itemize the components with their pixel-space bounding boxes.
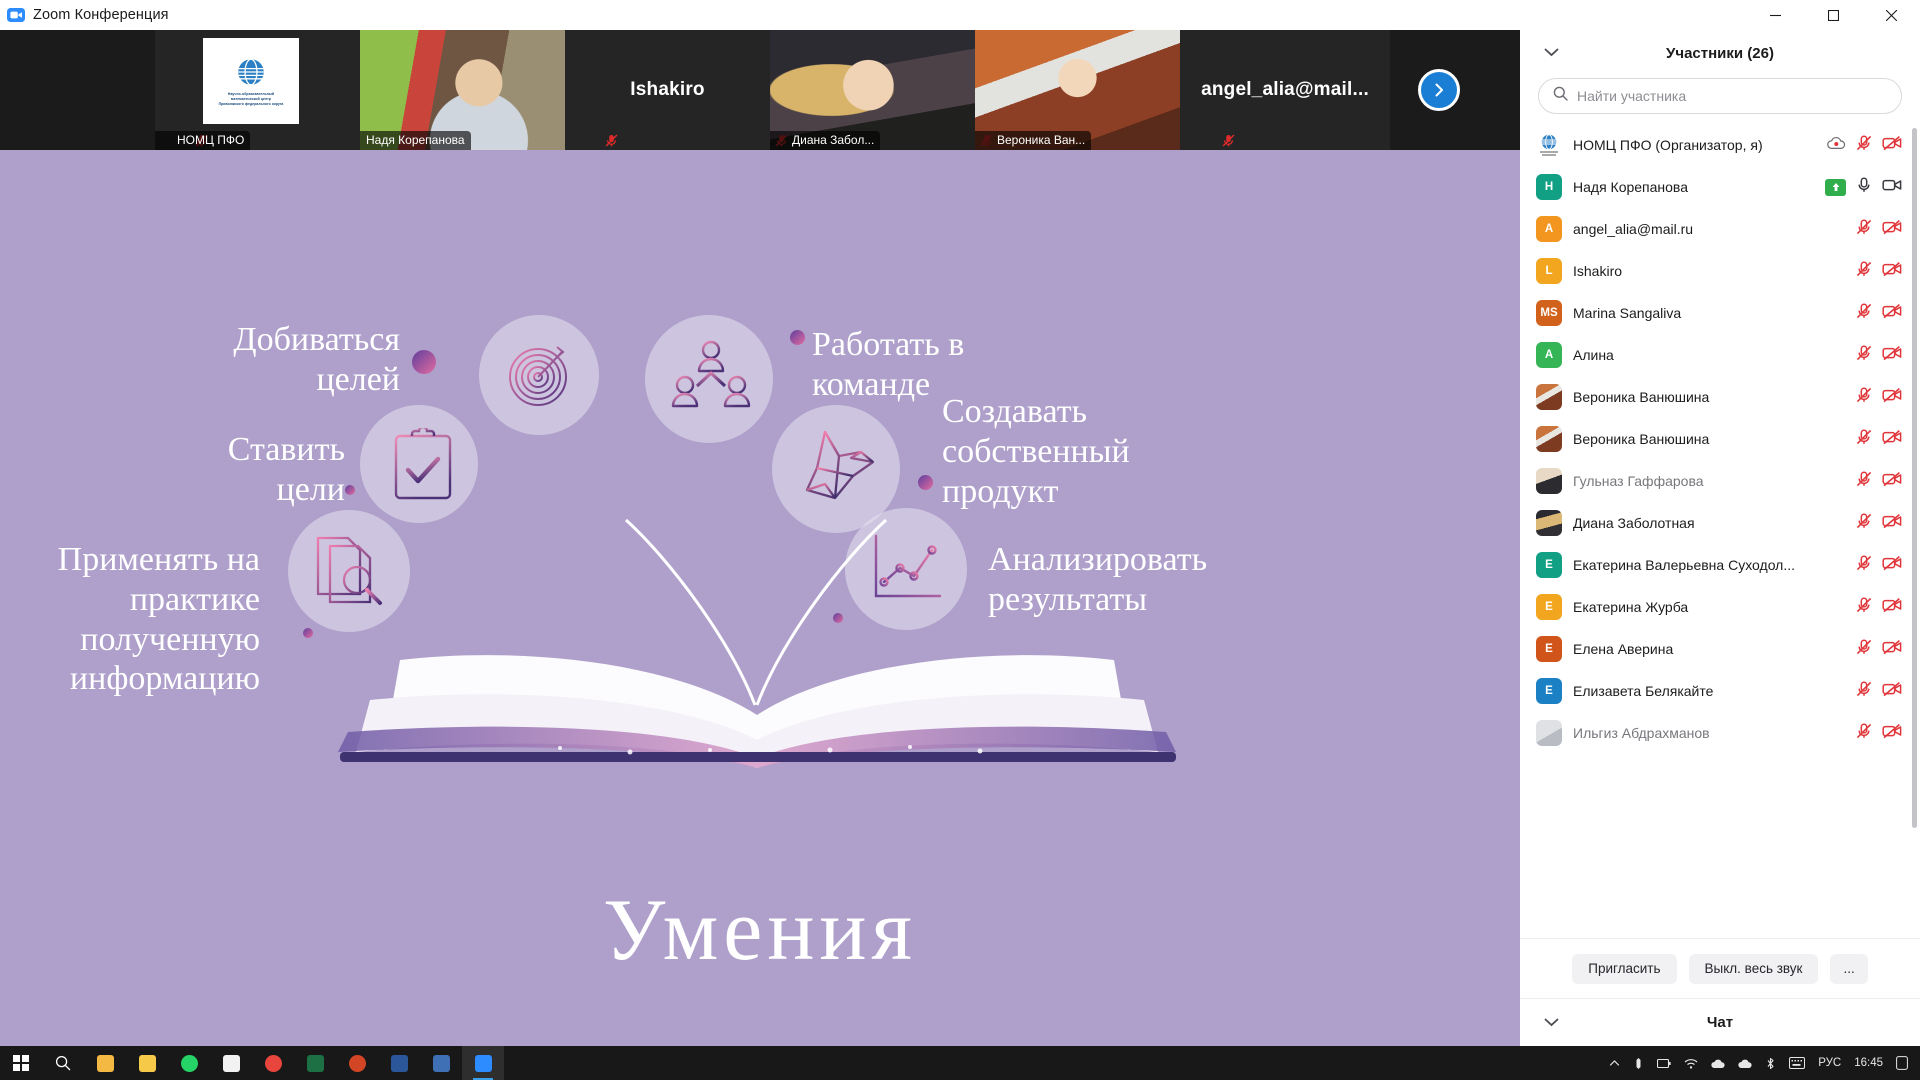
participant-avatar-logo bbox=[1536, 132, 1562, 158]
tile-name-label: Диана Забол... bbox=[770, 131, 880, 150]
camera-off-icon[interactable] bbox=[1882, 428, 1902, 451]
meeting-window: Научно-образовательныйматематический цен… bbox=[0, 30, 1520, 1046]
decorative-dot bbox=[918, 475, 933, 490]
participants-panel: Участники (26) НОМЦ ПФО (Организатор, я)… bbox=[1520, 30, 1920, 1046]
muted-mic-icon[interactable] bbox=[1855, 134, 1873, 157]
participant-row[interactable]: ННадя Корепанова bbox=[1520, 166, 1920, 208]
participant-avatar-photo bbox=[1536, 720, 1562, 746]
bluetooth-icon[interactable] bbox=[1765, 1057, 1776, 1070]
decorative-dot bbox=[412, 350, 436, 374]
participants-footer: Пригласить Выкл. весь звук ... bbox=[1520, 938, 1920, 998]
muted-mic-icon bbox=[1221, 133, 1236, 148]
participant-row[interactable]: НОМЦ ПФО (Организатор, я) bbox=[1520, 124, 1920, 166]
participant-row[interactable]: MSMarina Sangaliva bbox=[1520, 292, 1920, 334]
battery-icon[interactable] bbox=[1657, 1058, 1671, 1069]
chat-section-header[interactable]: Чат bbox=[1520, 998, 1920, 1046]
search-icon bbox=[1553, 86, 1568, 106]
participant-status-icons bbox=[1855, 722, 1902, 745]
minimize-button[interactable] bbox=[1746, 0, 1804, 30]
video-tile[interactable]: Научно-образовательныйматематический цен… bbox=[155, 30, 360, 150]
search-button[interactable] bbox=[42, 1046, 84, 1080]
participant-name: Надя Корепанова bbox=[1573, 179, 1814, 195]
participant-name: Диана Заболотная bbox=[1573, 515, 1844, 531]
muted-mic-icon[interactable] bbox=[1855, 470, 1873, 493]
wifi-icon[interactable] bbox=[1684, 1058, 1698, 1069]
chevron-down-icon[interactable] bbox=[1544, 1014, 1559, 1032]
window-title: Zoom Конференция bbox=[33, 7, 169, 23]
team-people-icon bbox=[670, 338, 752, 420]
muted-mic-icon[interactable] bbox=[1855, 554, 1873, 577]
video-thumbnail-strip: Научно-образовательныйматематический цен… bbox=[0, 30, 1520, 150]
screen-share-icon bbox=[1825, 179, 1846, 196]
participant-status-icons bbox=[1855, 680, 1902, 703]
participant-row[interactable]: ЕЕкатерина Валерьевна Суходол... bbox=[1520, 544, 1920, 586]
participant-avatar-photo bbox=[1536, 468, 1562, 494]
filmstrip-spacer bbox=[0, 30, 155, 150]
participant-name: Гульназ Гаффарова bbox=[1573, 473, 1844, 489]
participant-status-icons bbox=[1855, 596, 1902, 619]
participant-row[interactable]: ЕЕлена Аверина bbox=[1520, 628, 1920, 670]
slide-label: Ставить цели bbox=[140, 430, 345, 510]
participant-row[interactable]: Aangel_alia@mail.ru bbox=[1520, 208, 1920, 250]
clock[interactable]: 16:45 bbox=[1854, 1057, 1883, 1069]
decorative-dot bbox=[790, 330, 805, 345]
muted-mic-icon[interactable] bbox=[1855, 428, 1873, 451]
logo-text: Научно-образовательныйматематический цен… bbox=[219, 92, 284, 107]
muted-mic-icon[interactable] bbox=[1855, 302, 1873, 325]
participant-name: Елена Аверина bbox=[1573, 641, 1844, 657]
participant-row[interactable]: Вероника Ванюшина bbox=[1520, 376, 1920, 418]
camera-off-icon[interactable] bbox=[1882, 722, 1902, 745]
participant-name: НОМЦ ПФО (Организатор, я) bbox=[1573, 137, 1816, 153]
video-tile[interactable]: Ishakiro bbox=[565, 30, 770, 150]
participant-status-icons bbox=[1855, 554, 1902, 577]
muted-mic-icon[interactable] bbox=[1855, 218, 1873, 241]
participant-status-icons bbox=[1855, 260, 1902, 283]
globe-icon bbox=[234, 55, 268, 89]
taskbar-app-zoom[interactable] bbox=[462, 1046, 504, 1080]
video-tile[interactable]: angel_alia@mail... bbox=[1180, 30, 1390, 150]
taskbar-app-chrome[interactable] bbox=[252, 1046, 294, 1080]
participant-avatar-initials: L bbox=[1536, 258, 1562, 284]
shared-slide: Добиваться целей Ставить цели Применять … bbox=[0, 150, 1520, 1046]
show-hidden-icons-icon[interactable] bbox=[1609, 1058, 1620, 1069]
camera-off-icon[interactable] bbox=[1882, 344, 1902, 367]
participant-status-icons bbox=[1855, 386, 1902, 409]
search-input[interactable] bbox=[1577, 88, 1887, 104]
camera-off-icon[interactable] bbox=[1882, 386, 1902, 409]
participant-name: Екатерина Журба bbox=[1573, 599, 1844, 615]
participant-row[interactable]: LIshakiro bbox=[1520, 250, 1920, 292]
participant-avatar-initials: Е bbox=[1536, 636, 1562, 662]
taskbar-app-explorer[interactable] bbox=[84, 1046, 126, 1080]
video-tile[interactable]: Диана Забол... bbox=[770, 30, 975, 150]
taskbar-app-onedrive[interactable] bbox=[420, 1046, 462, 1080]
participant-name: Ishakiro bbox=[1573, 263, 1844, 279]
decorative-dot bbox=[303, 628, 313, 638]
more-options-button[interactable]: ... bbox=[1830, 954, 1867, 984]
participant-status-icons bbox=[1827, 134, 1902, 157]
participant-avatar-photo bbox=[1536, 510, 1562, 536]
keyboard-icon[interactable] bbox=[1789, 1057, 1805, 1069]
start-button[interactable] bbox=[0, 1046, 42, 1080]
muted-mic-icon[interactable] bbox=[1855, 680, 1873, 703]
participant-avatar-initials: Е bbox=[1536, 678, 1562, 704]
target-spiral-icon bbox=[505, 340, 575, 410]
muted-mic-icon[interactable] bbox=[1855, 512, 1873, 535]
clipboard-check-icon bbox=[388, 428, 458, 504]
video-tile[interactable]: Надя Корепанова bbox=[360, 30, 565, 150]
participant-avatar-initials: Н bbox=[1536, 174, 1562, 200]
participant-avatar-photo bbox=[1536, 384, 1562, 410]
participant-name: angel_alia@mail.ru bbox=[1573, 221, 1844, 237]
muted-mic-icon[interactable] bbox=[1855, 260, 1873, 283]
next-page-button[interactable] bbox=[1418, 69, 1460, 111]
participant-avatar-initials: A bbox=[1536, 216, 1562, 242]
window-title-bar: Zoom Конференция bbox=[0, 0, 1920, 30]
panel-scrollbar[interactable] bbox=[1912, 128, 1917, 828]
zoom-camera-icon bbox=[7, 6, 25, 24]
participant-row[interactable]: Ильгиз Абдрахманов bbox=[1520, 712, 1920, 754]
close-button[interactable] bbox=[1862, 0, 1920, 30]
participant-name: Елизавета Белякайте bbox=[1573, 683, 1844, 699]
muted-mic-icon[interactable] bbox=[1855, 638, 1873, 661]
taskbar-app-word[interactable] bbox=[378, 1046, 420, 1080]
camera-icon[interactable] bbox=[1882, 176, 1902, 199]
camera-off-icon[interactable] bbox=[1882, 638, 1902, 661]
participant-avatar-photo bbox=[1536, 426, 1562, 452]
muted-mic-icon[interactable] bbox=[1855, 386, 1873, 409]
participant-status-icons bbox=[1855, 218, 1902, 241]
organization-logo: Научно-образовательныйматематический цен… bbox=[203, 38, 299, 124]
participant-avatar-initials: Е bbox=[1536, 552, 1562, 578]
participants-title: Участники (26) bbox=[1520, 45, 1920, 62]
participants-header: Участники (26) bbox=[1520, 30, 1920, 76]
participant-avatar-initials: A bbox=[1536, 342, 1562, 368]
participant-status-icons bbox=[1855, 302, 1902, 325]
tile-name-label: НОМЦ ПФО bbox=[155, 131, 250, 150]
cloud-icon[interactable] bbox=[1738, 1058, 1752, 1069]
camera-off-icon[interactable] bbox=[1882, 260, 1902, 283]
tile-name-label: Надя Корепанова bbox=[360, 131, 471, 150]
language-indicator[interactable]: РУС bbox=[1818, 1057, 1841, 1069]
participant-row[interactable]: ЕЕлизавета Белякайте bbox=[1520, 670, 1920, 712]
participant-status-icons bbox=[1855, 344, 1902, 367]
taskbar-app-excel[interactable] bbox=[294, 1046, 336, 1080]
camera-off-icon[interactable] bbox=[1882, 596, 1902, 619]
camera-off-icon[interactable] bbox=[1882, 218, 1902, 241]
camera-off-icon[interactable] bbox=[1882, 512, 1902, 535]
windows-taskbar: РУС 16:45 bbox=[0, 1046, 1920, 1080]
participant-row[interactable]: ЕЕкатерина Журба bbox=[1520, 586, 1920, 628]
muted-mic-icon bbox=[604, 133, 619, 148]
taskbar-app-powerpoint[interactable] bbox=[336, 1046, 378, 1080]
maximize-button[interactable] bbox=[1804, 0, 1862, 30]
participant-name: Вероника Ванюшина bbox=[1573, 389, 1844, 405]
camera-off-icon[interactable] bbox=[1882, 470, 1902, 493]
system-tray: РУС 16:45 bbox=[1609, 1056, 1920, 1070]
participant-name: Алина bbox=[1573, 347, 1844, 363]
tile-name-label: Вероника Ван... bbox=[975, 131, 1091, 150]
slide-label: Применять на практике полученную информа… bbox=[55, 540, 260, 699]
participant-row[interactable]: Вероника Ванюшина bbox=[1520, 418, 1920, 460]
window-controls bbox=[1746, 0, 1920, 30]
participant-status-icons bbox=[1825, 176, 1902, 199]
slide-title: Умения bbox=[0, 880, 1520, 981]
participant-status-icons bbox=[1855, 512, 1902, 535]
invite-button[interactable]: Пригласить bbox=[1572, 954, 1676, 984]
participant-row[interactable]: Диана Заболотная bbox=[1520, 502, 1920, 544]
participant-avatar-initials: MS bbox=[1536, 300, 1562, 326]
participant-status-icons bbox=[1855, 470, 1902, 493]
tile-display-name: Ishakiro bbox=[565, 30, 770, 150]
cloud-record-icon bbox=[1827, 136, 1846, 155]
camera-off-icon[interactable] bbox=[1882, 134, 1902, 157]
participant-status-icons bbox=[1855, 638, 1902, 661]
notification-icon[interactable] bbox=[1896, 1056, 1908, 1070]
muted-mic-icon[interactable] bbox=[1855, 722, 1873, 745]
muted-mic-icon[interactable] bbox=[1855, 596, 1873, 619]
participant-search-box[interactable] bbox=[1538, 78, 1902, 114]
chevron-right-icon bbox=[1430, 81, 1448, 99]
participant-row[interactable]: Гульназ Гаффарова bbox=[1520, 460, 1920, 502]
decorative-dot bbox=[345, 485, 355, 495]
chevron-down-icon[interactable] bbox=[1544, 44, 1559, 62]
camera-off-icon[interactable] bbox=[1882, 302, 1902, 325]
participant-name: Ильгиз Абдрахманов bbox=[1573, 725, 1844, 741]
chat-title: Чат bbox=[1520, 1014, 1920, 1031]
camera-off-icon[interactable] bbox=[1882, 680, 1902, 703]
slide-label: Создавать собственный продукт bbox=[942, 392, 1222, 511]
participant-avatar-initials: Е bbox=[1536, 594, 1562, 620]
muted-mic-icon[interactable] bbox=[1855, 344, 1873, 367]
taskbar-app-white[interactable] bbox=[210, 1046, 252, 1080]
participant-name: Екатерина Валерьевна Суходол... bbox=[1573, 557, 1844, 573]
participant-row[interactable]: AАлина bbox=[1520, 334, 1920, 376]
video-tile[interactable]: Вероника Ван... bbox=[975, 30, 1180, 150]
participant-name: Marina Sangaliva bbox=[1573, 305, 1844, 321]
taskbar-app-notepad[interactable] bbox=[126, 1046, 168, 1080]
camera-off-icon[interactable] bbox=[1882, 554, 1902, 577]
tile-display-name: angel_alia@mail... bbox=[1180, 30, 1390, 150]
taskbar-app-whatsapp[interactable] bbox=[168, 1046, 210, 1080]
mute-all-button[interactable]: Выкл. весь звук bbox=[1689, 954, 1819, 984]
slide-label: Добиваться целей bbox=[150, 320, 400, 400]
participant-status-icons bbox=[1855, 428, 1902, 451]
participant-name: Вероника Ванюшина bbox=[1573, 431, 1844, 447]
pen-icon[interactable] bbox=[1633, 1057, 1644, 1070]
cloud-up-icon[interactable] bbox=[1711, 1058, 1725, 1069]
mic-icon[interactable] bbox=[1855, 176, 1873, 199]
open-book-illustration bbox=[330, 500, 1200, 780]
participants-list[interactable]: НОМЦ ПФО (Организатор, я)ННадя Корепанов… bbox=[1520, 124, 1920, 938]
